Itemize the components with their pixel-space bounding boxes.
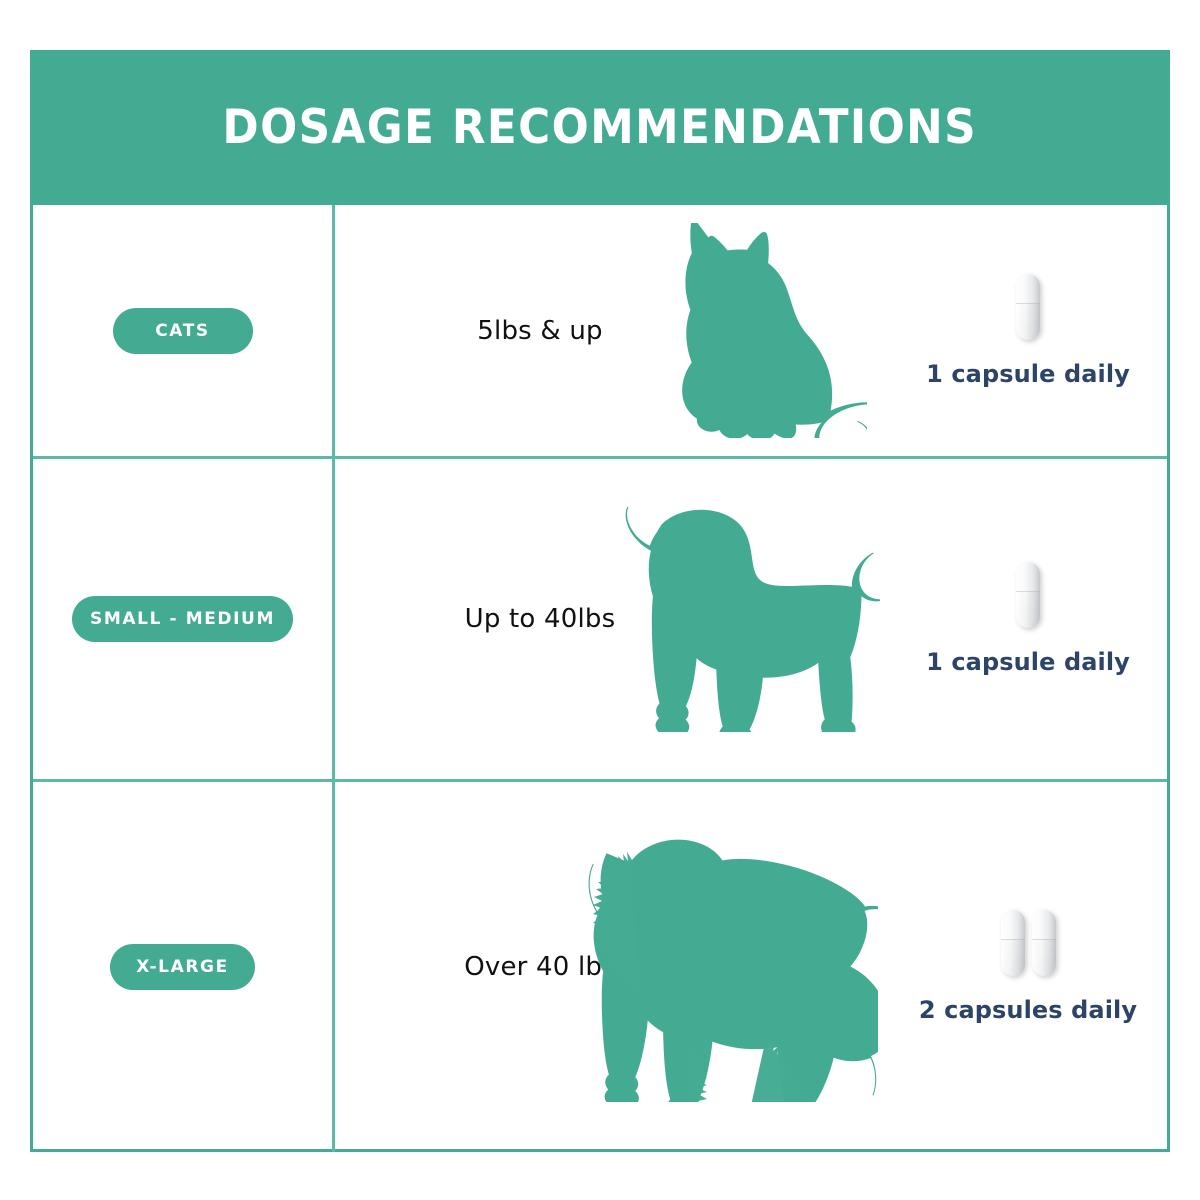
capsule-group — [1016, 562, 1040, 628]
capsule-group — [1016, 274, 1040, 340]
capsule-icon — [1001, 910, 1025, 976]
card-header: DOSAGE RECOMMENDATIONS — [30, 50, 1170, 205]
table-cell-weight-and-animal: Up to 40lbs — [335, 459, 889, 782]
large-dog-silhouette-icon — [557, 782, 889, 1152]
dose-label: 2 capsules daily — [919, 996, 1137, 1024]
table-cell-size: CATS — [33, 205, 335, 459]
dosage-recommendations-card: DOSAGE RECOMMENDATIONS CATS 5lbs & up 1 … — [30, 50, 1170, 1152]
dose-box: 2 capsules daily — [889, 782, 1167, 1152]
dosage-table: CATS 5lbs & up 1 capsule daily SMALL - M… — [33, 205, 1167, 1152]
medium-dog-silhouette-icon — [615, 459, 889, 779]
table-cell-size: X-LARGE — [33, 782, 335, 1152]
status-badge: SMALL - MEDIUM — [72, 596, 293, 642]
table-cell-weight-and-animal: 5lbs & up — [335, 205, 889, 459]
page-title: DOSAGE RECOMMENDATIONS — [223, 100, 978, 155]
table-cell-weight-and-animal: Over 40 lbs — [335, 782, 889, 1152]
dose-box: 1 capsule daily — [889, 459, 1167, 779]
capsule-icon — [1016, 274, 1040, 340]
cat-silhouette-icon — [645, 205, 889, 456]
status-badge: CATS — [113, 308, 253, 354]
table-cell-dose: 1 capsule daily — [889, 205, 1167, 459]
status-badge: X-LARGE — [110, 944, 255, 990]
capsule-icon — [1032, 910, 1056, 976]
capsule-icon — [1016, 562, 1040, 628]
dose-box: 1 capsule daily — [889, 205, 1167, 456]
dose-label: 1 capsule daily — [926, 360, 1130, 388]
weight-label: 5lbs & up — [477, 316, 602, 346]
table-cell-dose: 1 capsule daily — [889, 459, 1167, 782]
weight-label: Up to 40lbs — [465, 604, 616, 634]
table-cell-size: SMALL - MEDIUM — [33, 459, 335, 782]
dose-label: 1 capsule daily — [926, 648, 1130, 676]
capsule-group — [1001, 910, 1056, 976]
table-cell-dose: 2 capsules daily — [889, 782, 1167, 1152]
